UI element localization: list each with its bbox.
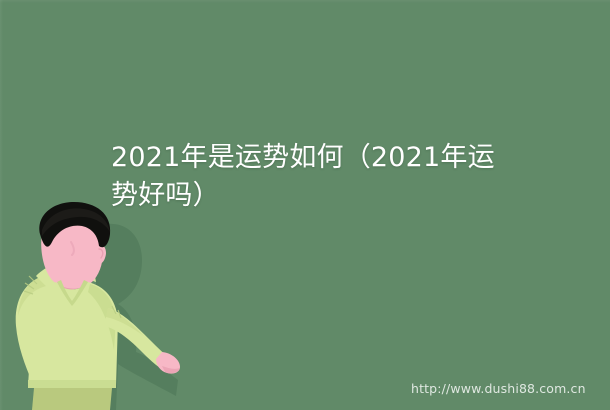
page-title: 2021年是运势如何（2021年运势好吗） [111, 139, 511, 215]
sweater-hem [28, 380, 116, 388]
pants [32, 388, 112, 410]
banner-image: 2021年是运势如何（2021年运势好吗） http://www.dushi88… [0, 0, 610, 410]
person-illustration [0, 200, 200, 410]
watermark-url: http://www.dushi88.com.cn [411, 381, 586, 397]
background-top-edge [0, 0, 610, 3]
